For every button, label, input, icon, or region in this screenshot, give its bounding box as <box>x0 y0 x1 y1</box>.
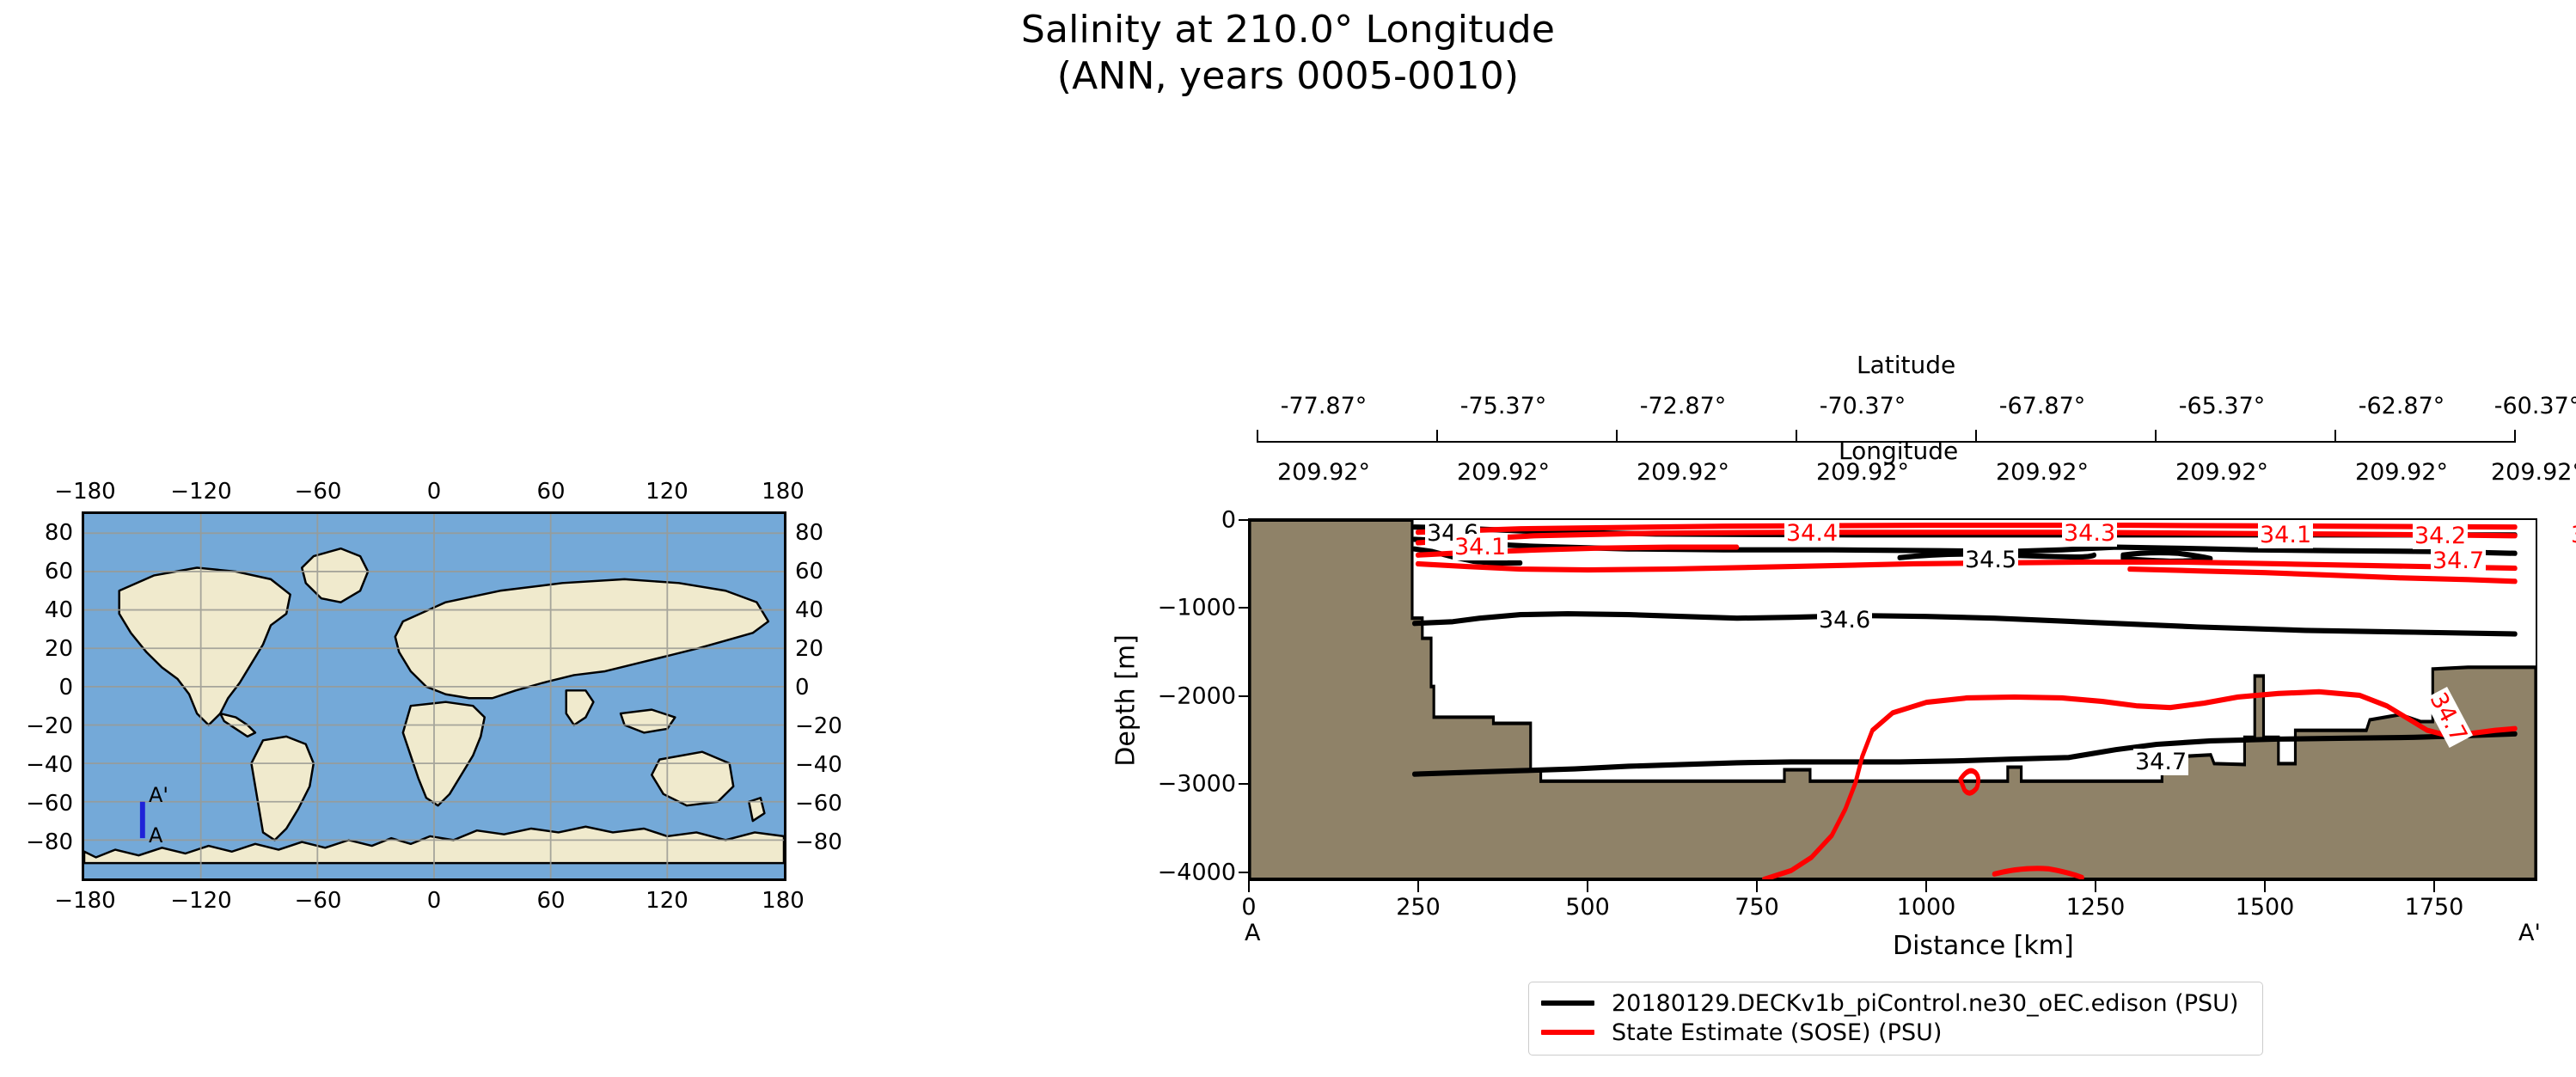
contour-label-sose-34p1-b: 34.1 <box>2258 522 2313 548</box>
model-contour-34p6-mid <box>1414 614 2515 633</box>
latitude-tick-4: -67.87° <box>1999 393 2086 419</box>
map-lon-tick-top-0: −180 <box>54 479 115 505</box>
distance-tickmark-0 <box>1248 881 1250 892</box>
distance-tick-6: 1500 <box>2236 894 2295 921</box>
longitude-tick-7: 209.92° <box>2491 459 2576 486</box>
lat-tickmark-0 <box>1257 430 1258 442</box>
map-lon-tick-bottom-3: 0 <box>427 888 442 914</box>
map-lon-tick-top-3: 0 <box>427 479 442 505</box>
contour-label-sose-34p7-mid: 34.7 <box>2431 548 2486 574</box>
contour-label-model-34p5: 34.5 <box>1963 547 2018 573</box>
distance-axis-label: Distance [km] <box>1893 931 2074 961</box>
longitude-tick-5: 209.92° <box>2175 459 2268 486</box>
longitude-tick-4: 209.92° <box>1996 459 2089 486</box>
contour-label-sose-34p1-a: 34.1 <box>1453 534 1508 560</box>
lat-tickmark-6 <box>2334 430 2336 442</box>
depth-tick-3: −3000 <box>1158 771 1236 798</box>
title-line-1: Salinity at 210.0° Longitude <box>0 7 2576 53</box>
lat-tickmark-3 <box>1796 430 1797 442</box>
longitude-tick-3: 209.92° <box>1816 459 1909 486</box>
distance-tickmark-5 <box>2095 881 2096 892</box>
lat-tickmark-5 <box>2155 430 2157 442</box>
map-lat-tick-left-3: 20 <box>45 636 73 662</box>
map-lon-tick-bottom-1: −120 <box>170 888 231 914</box>
distance-tick-0: 0 <box>1241 894 1256 921</box>
latitude-tick-2: -72.87° <box>1640 393 1727 419</box>
map-graphic <box>84 514 784 878</box>
distance-tick-5: 1250 <box>2066 894 2126 921</box>
lat-tickmark-4 <box>1975 430 1977 442</box>
depth-tick-1: −1000 <box>1158 595 1236 621</box>
map-lat-tick-left-1: 60 <box>45 559 73 584</box>
sose-contour-34p1-band <box>1417 532 2515 542</box>
distance-tickmark-7 <box>2433 881 2435 892</box>
endpoint-label-a-prime: A' <box>2518 920 2541 946</box>
map-lon-tick-top-4: 60 <box>536 479 565 505</box>
map-transect-label-a: A <box>149 823 162 848</box>
lat-tickmark-1 <box>1436 430 1438 442</box>
distance-tick-4: 1000 <box>1897 894 1956 921</box>
map-lon-tick-bottom-5: 120 <box>646 888 688 914</box>
legend-item-model[interactable]: 20180129.DECKv1b_piControl.ne30_oEC.edis… <box>1541 988 2250 1018</box>
secondary-axis-line <box>1257 441 2516 443</box>
latitude-tick-7: -60.37° <box>2494 393 2576 419</box>
map-lat-tick-right-8: −80 <box>795 829 842 855</box>
legend-swatch-model <box>1541 1001 1594 1006</box>
depth-tick-4: −4000 <box>1158 860 1236 886</box>
longitude-tick-1: 209.92° <box>1457 459 1550 486</box>
contour-label-sose-34p6: 34.6 <box>2569 522 2576 548</box>
map-transect-label-a-prime: A' <box>149 783 168 807</box>
legend-item-sose[interactable]: State Estimate (SOSE) (PSU) <box>1541 1018 2250 1047</box>
map-lat-tick-right-1: 60 <box>795 559 823 584</box>
longitude-tick-0: 209.92° <box>1277 459 1370 486</box>
map-lon-tick-bottom-2: −60 <box>295 888 342 914</box>
endpoint-label-a: A <box>1245 920 1260 946</box>
distance-tick-1: 250 <box>1396 894 1441 921</box>
distance-tickmark-6 <box>2264 881 2266 892</box>
map-frame <box>82 511 786 881</box>
map-lat-tick-right-2: 40 <box>795 597 823 623</box>
contour-label-model-34p7-deep: 34.7 <box>2133 749 2188 775</box>
latitude-tick-6: -62.87° <box>2359 393 2445 419</box>
contour-label-model-34p6-mid: 34.6 <box>1817 607 1872 633</box>
lat-tickmark-7 <box>2514 430 2516 442</box>
legend-label-model: 20180129.DECKv1b_piControl.ne30_oEC.edis… <box>1612 990 2238 1017</box>
legend-label-sose: State Estimate (SOSE) (PSU) <box>1612 1019 1942 1046</box>
latitude-tick-5: -65.37° <box>2179 393 2266 419</box>
map-lat-tick-right-3: 20 <box>795 636 823 662</box>
map-lon-tick-top-6: 180 <box>762 479 805 505</box>
salinity-cross-section: 34.6 34.1 34.4 34.3 34.1 34.2 34.6 34.7 … <box>1248 518 2537 881</box>
map-lon-tick-bottom-4: 60 <box>536 888 565 914</box>
map-lat-tick-left-5: −20 <box>26 713 73 739</box>
contour-label-sose-34p4: 34.4 <box>1784 520 1839 547</box>
map-lat-tick-left-0: 80 <box>45 520 73 546</box>
title-line-2: (ANN, years 0005-0010) <box>0 53 2576 100</box>
longitude-tick-2: 209.92° <box>1637 459 1729 486</box>
map-lat-tick-right-5: −20 <box>795 713 842 739</box>
map-lon-tick-bottom-0: −180 <box>54 888 115 914</box>
world-map-inset: −180 −120 −60 0 60 120 180 −180 −120 −60… <box>82 511 786 881</box>
distance-tickmark-1 <box>1417 881 1419 892</box>
distance-tick-2: 500 <box>1565 894 1610 921</box>
lat-tickmark-2 <box>1616 430 1618 442</box>
latitude-tick-1: -75.37° <box>1460 393 1547 419</box>
map-lat-tick-left-4: 0 <box>58 675 73 701</box>
map-lat-tick-right-6: −40 <box>795 752 842 778</box>
cross-section-graphic <box>1250 520 2536 879</box>
depth-axis-label: Depth [m] <box>1111 634 1141 767</box>
latitude-tick-3: -70.37° <box>1820 393 1906 419</box>
cross-section-axes <box>1248 518 2537 881</box>
distance-tickmark-3 <box>1756 881 1758 892</box>
distance-tickmark-2 <box>1587 881 1588 892</box>
contour-label-sose-34p2: 34.2 <box>2413 523 2468 549</box>
legend-swatch-sose <box>1541 1030 1594 1035</box>
map-lon-tick-bottom-6: 180 <box>762 888 805 914</box>
map-lat-tick-right-0: 80 <box>795 520 823 546</box>
map-lat-tick-left-8: −80 <box>26 829 73 855</box>
distance-tick-7: 1750 <box>2405 894 2464 921</box>
latitude-tick-0: -77.87° <box>1281 393 1368 419</box>
map-lat-tick-right-4: 0 <box>795 675 810 701</box>
depth-tick-2: −2000 <box>1158 683 1236 710</box>
latitude-axis-name: Latitude <box>1857 351 1955 379</box>
map-lon-tick-top-5: 120 <box>646 479 688 505</box>
map-lon-tick-top-2: −60 <box>295 479 342 505</box>
map-lat-tick-left-2: 40 <box>45 597 73 623</box>
distance-tickmark-4 <box>1925 881 1927 892</box>
map-lat-tick-left-7: −60 <box>26 791 73 817</box>
longitude-tick-6: 209.92° <box>2355 459 2448 486</box>
distance-tick-3: 750 <box>1735 894 1779 921</box>
map-lon-tick-top-1: −120 <box>170 479 231 505</box>
figure-title: Salinity at 210.0° Longitude (ANN, years… <box>0 7 2576 99</box>
map-lat-tick-left-6: −40 <box>26 752 73 778</box>
contour-label-sose-34p3: 34.3 <box>2062 520 2117 547</box>
map-lat-tick-right-7: −60 <box>795 791 842 817</box>
legend: 20180129.DECKv1b_piControl.ne30_oEC.edis… <box>1528 982 2263 1056</box>
depth-tick-0: 0 <box>1221 507 1236 534</box>
